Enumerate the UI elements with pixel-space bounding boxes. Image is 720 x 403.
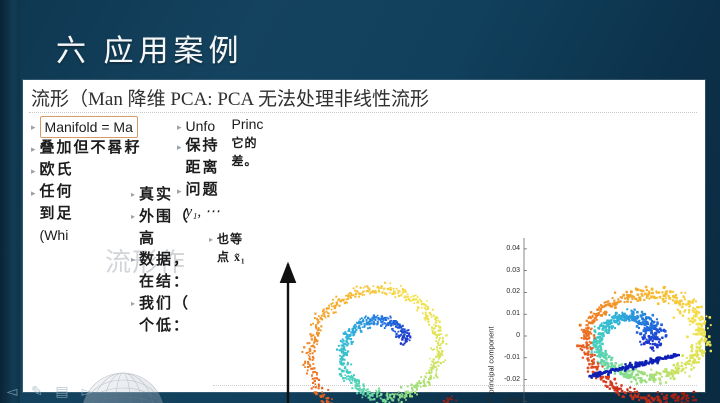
outline-item-label: 个低：	[139, 316, 190, 338]
y-tick-label: 0	[494, 332, 520, 339]
previous-slide-arrow-icon[interactable]: ◅	[4, 383, 20, 399]
panel-heading: 流形（Man 降维 PCA: PCA 无法处理非线性流形	[31, 84, 695, 111]
outline-item: ▸我们（	[131, 294, 223, 316]
bullet-icon: ▸	[209, 236, 213, 244]
pca-y-axis-label: 2nd principal component	[486, 326, 496, 403]
presentation-toolbar[interactable]: ◅✎▤▻	[4, 383, 95, 399]
page-title: 六 应用案例	[56, 26, 244, 70]
slide-stage: 六 应用案例 流形（Man 降维 PCA: PCA 无法处理非线性流形 流形作	[0, 0, 720, 403]
outline-item: ▸问题	[177, 180, 241, 202]
outline-item-label: 问题	[186, 180, 220, 202]
bullet-icon: ▸	[131, 213, 135, 221]
outline-item: ▸它的	[223, 134, 279, 152]
bullet-icon: ▸	[31, 123, 36, 132]
outline-item-label: 到足	[40, 204, 74, 226]
outline-item: ▸叠加但不晷耔	[31, 138, 151, 160]
chart-pca-projection: -0.0100.010.020.030.04 -0.04-0.03-0.02-0…	[478, 228, 720, 403]
y-tick-label: 0.01	[494, 310, 520, 317]
chart-swiss-roll	[266, 208, 474, 403]
bullet-icon: ▸	[31, 145, 36, 154]
outline-item-label: 真实	[139, 185, 173, 207]
y-tick-label: 0.02	[494, 288, 520, 295]
outline-item: ▸欧氏	[31, 160, 151, 182]
outline-item-label: 差。	[232, 152, 258, 170]
heading-divider	[29, 112, 697, 113]
outline-column-5: ▸也等▸点 x̃₁	[209, 230, 271, 266]
y-tick-label: -0.01	[494, 354, 520, 361]
y-tick-label: 0.04	[494, 245, 520, 252]
bullet-icon: ▸	[177, 187, 182, 196]
outline-item-label: (Whi	[40, 225, 69, 245]
outline-column-4: ▸Princ▸它的▸差。	[223, 114, 279, 170]
bullet-icon: ▸	[131, 256, 135, 264]
y-tick-label: -0.02	[494, 376, 520, 383]
outline-item: ▸也等	[209, 230, 271, 248]
outline-item-label: 我们（	[139, 294, 190, 316]
outline-item-label: 叠加但不晷耔	[40, 138, 142, 160]
outline-item: ▸个低：	[131, 316, 223, 338]
bullet-icon: ▸	[31, 167, 36, 176]
bullet-icon: ▸	[177, 143, 182, 152]
bullet-icon: ▸	[131, 191, 135, 199]
outline-item: ▸Princ	[223, 114, 279, 134]
outline-item: ▸Manifold = Ma	[31, 116, 151, 138]
pen-tool-icon[interactable]: ✎	[29, 383, 45, 399]
left-gradient-rail	[0, 0, 20, 403]
outline-item-label: Unfo	[186, 116, 216, 136]
outline-item-label: 保持	[186, 136, 220, 158]
outline-item-label: 欧氏	[40, 160, 74, 182]
bullet-icon: ▸	[31, 189, 36, 198]
y-tick-label: -0.03	[494, 397, 520, 403]
outline-item: ▸差。	[223, 152, 279, 170]
outline-item-label: 它的	[232, 134, 258, 152]
outline-item-label: 高	[139, 229, 156, 251]
swiss-roll-scatter-svg	[266, 208, 474, 403]
pca-points	[576, 286, 712, 403]
outline-item-label: 距离	[186, 158, 220, 180]
outline-item-label: Princ	[232, 114, 264, 134]
next-slide-arrow-icon[interactable]: ▻	[79, 383, 95, 399]
outline-item-label: 在结：	[139, 272, 190, 294]
outline-item: ▸点 x̃₁	[209, 248, 271, 266]
outline-item-label: 点 x̃₁	[217, 248, 246, 266]
slide-menu-icon[interactable]: ▤	[54, 383, 70, 399]
bullet-icon: ▸	[131, 300, 135, 308]
outline-item-label: 任何	[40, 182, 74, 204]
outline-item-label: y₁, ⋯	[186, 202, 220, 221]
outline-item-label: 也等	[217, 230, 243, 248]
outline-item-label: Manifold = Ma	[40, 116, 138, 138]
swiss-roll-points	[301, 282, 459, 403]
outline-item-label: 数据，	[139, 250, 190, 272]
outline-item: ▸在结：	[131, 272, 223, 294]
y-tick-label: 0.03	[494, 267, 520, 274]
slide-content-panel: 流形（Man 降维 PCA: PCA 无法处理非线性流形 流形作	[23, 80, 705, 392]
outline-item: ▸y₁, ⋯	[177, 202, 241, 221]
bullet-icon: ▸	[177, 123, 182, 132]
